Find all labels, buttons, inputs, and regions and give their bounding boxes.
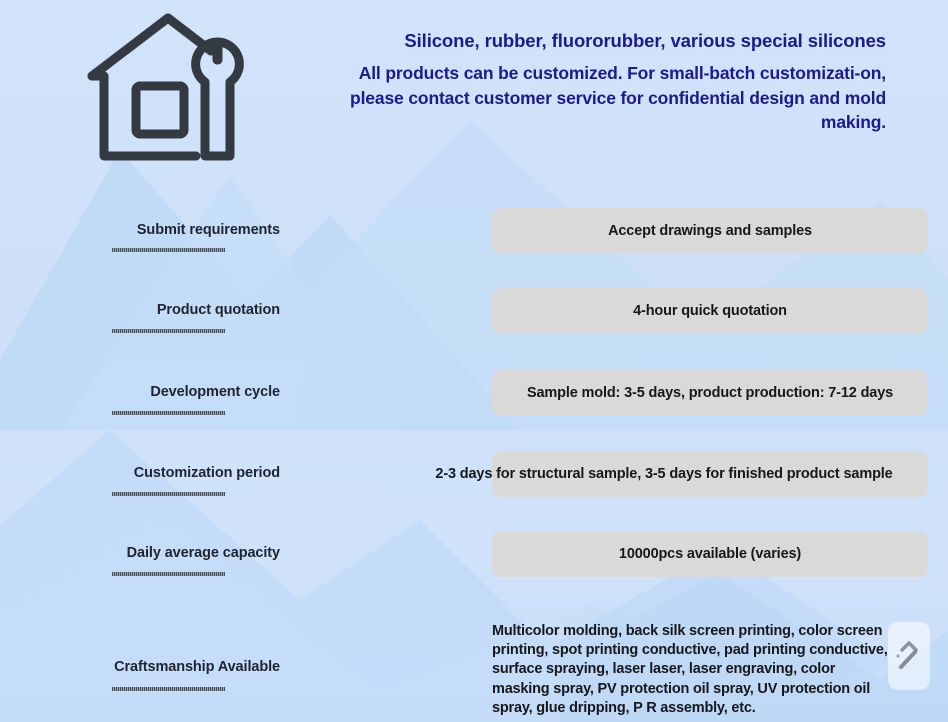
row-underline <box>112 687 225 691</box>
row-label-development-cycle: Development cycle <box>0 384 280 400</box>
row-underline <box>112 329 225 333</box>
infographic-page: Silicone, rubber, fluororubber, various … <box>0 0 948 722</box>
logo <box>78 8 258 163</box>
page-title: Silicone, rubber, fluororubber, various … <box>340 28 886 54</box>
scroll-to-top-widget[interactable] <box>888 622 930 690</box>
row-label-submit-requirements: Submit requirements <box>0 222 280 238</box>
row-label-craftsmanship-available: Craftsmanship Available <box>0 659 280 675</box>
row-label-customization-period: Customization period <box>0 465 280 481</box>
page-subtitle: All products can be customized. For smal… <box>340 61 886 135</box>
row-label-daily-average-capacity: Daily average capacity <box>0 545 280 561</box>
row-value-product-quotation: 4-hour quick quotation <box>492 303 928 319</box>
row-underline <box>112 411 225 415</box>
header-text-block: Silicone, rubber, fluororubber, various … <box>340 28 886 135</box>
row-underline <box>112 492 225 496</box>
row-value-development-cycle: Sample mold: 3-5 days, product productio… <box>492 385 928 401</box>
scroll-to-top-icon[interactable] <box>888 622 930 690</box>
row-underline <box>112 572 225 576</box>
row-value-submit-requirements: Accept drawings and samples <box>492 223 928 239</box>
row-label-product-quotation: Product quotation <box>0 302 280 318</box>
house-wrench-icon <box>78 8 258 163</box>
row-value-daily-average-capacity: 10000pcs available (varies) <box>492 546 928 562</box>
row-value-customization-period: 2-3 days for structural sample, 3-5 days… <box>400 466 928 482</box>
row-value-craftsmanship-available: Multicolor molding, back silk screen pri… <box>492 622 892 718</box>
row-underline <box>112 248 225 252</box>
